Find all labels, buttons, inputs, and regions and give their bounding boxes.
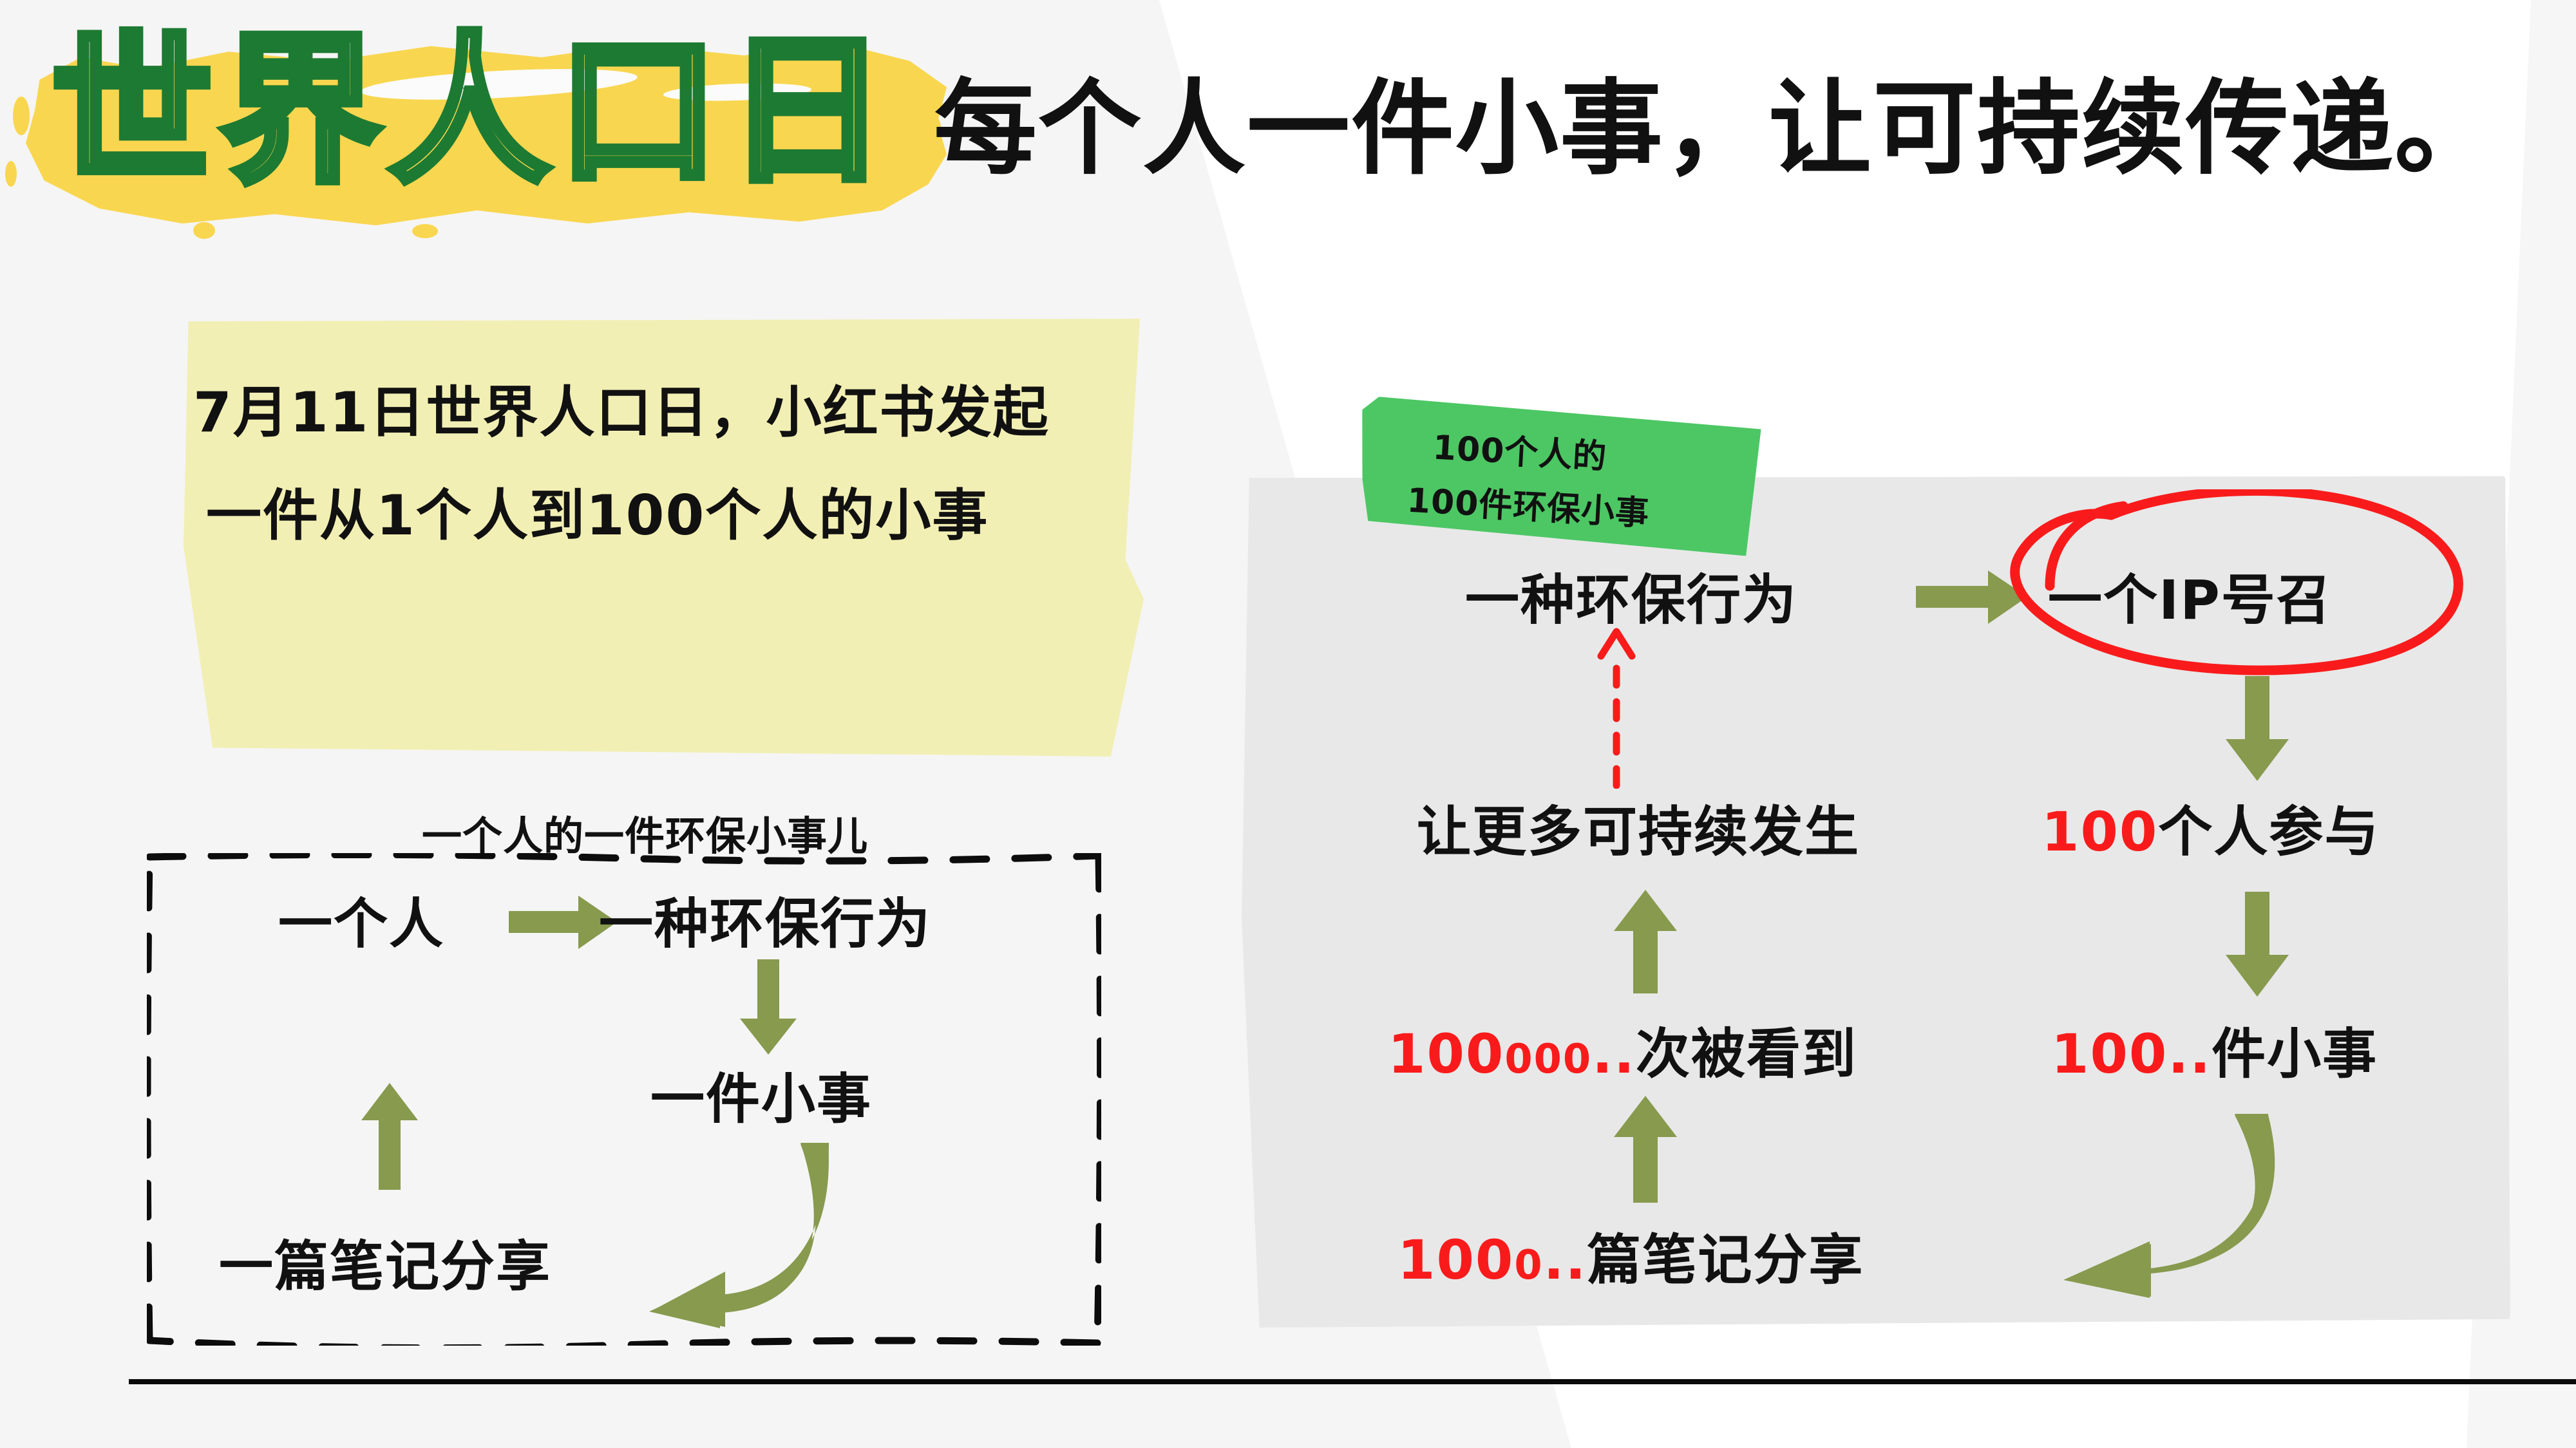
things-label: 件小事 bbox=[2211, 1022, 2378, 1086]
seen-label: 次被看到 bbox=[1636, 1022, 1857, 1086]
page-title: 世界人口日 bbox=[52, 31, 895, 192]
arrow-up-icon bbox=[357, 1082, 422, 1194]
right-node-sustain: 让更多可持续发生 bbox=[1417, 789, 1860, 867]
seen-number: 100 bbox=[1388, 1022, 1504, 1086]
brush-fleck-icon bbox=[193, 222, 215, 239]
arrow-right-icon bbox=[1916, 567, 2029, 631]
arrow-dashed-up-icon bbox=[1597, 628, 1636, 792]
notes-number: 100 bbox=[1397, 1228, 1514, 1292]
arrow-curve-left-icon bbox=[2022, 1107, 2293, 1304]
poster-canvas: 世界人口日 每个人一件小事，让可持续传递。 7月11日世界人口日，小红书发起 一… bbox=[0, 0, 2576, 1448]
right-node-notes: 1000..篇笔记分享 bbox=[1397, 1217, 1864, 1295]
join-label: 个人参与 bbox=[2158, 800, 2380, 863]
seen-dots: .. bbox=[1592, 1022, 1636, 1086]
right-node-join: 100个人参与 bbox=[2041, 789, 2380, 867]
seen-number-small: 000 bbox=[1504, 1035, 1592, 1082]
right-node-things: 100..件小事 bbox=[2051, 1011, 2378, 1089]
join-number: 100 bbox=[2041, 800, 2158, 863]
brush-fleck-icon bbox=[412, 224, 438, 238]
things-dots: .. bbox=[2168, 1022, 2211, 1086]
brush-fleck-icon bbox=[13, 97, 30, 135]
notes-dots: .. bbox=[1544, 1228, 1587, 1292]
left-node-note-share: 一篇笔记分享 bbox=[219, 1223, 551, 1301]
arrow-down-icon bbox=[2222, 892, 2293, 1001]
right-node-ip-call: 一个IP号召 bbox=[2048, 557, 2332, 635]
sticky-note-line-1: 7月11日世界人口日，小红书发起 bbox=[193, 367, 1050, 447]
notes-label: 篇笔记分享 bbox=[1587, 1228, 1864, 1292]
right-node-seen: 100000..次被看到 bbox=[1388, 1011, 1857, 1089]
arrow-down-icon bbox=[736, 959, 800, 1059]
left-node-person: 一个人 bbox=[278, 881, 444, 959]
sticky-note-line-2: 一件从1个人到100个人的小事 bbox=[206, 470, 989, 550]
notes-number-small: 0 bbox=[1514, 1241, 1543, 1288]
arrow-down-icon bbox=[2222, 676, 2293, 785]
brush-fleck-icon bbox=[5, 161, 17, 187]
left-node-behavior: 一种环保行为 bbox=[599, 881, 931, 959]
arrow-up-icon bbox=[1610, 889, 1681, 998]
headline-slogan: 每个人一件小事，让可持续传递。 bbox=[934, 77, 2499, 180]
things-number: 100 bbox=[2051, 1022, 2168, 1086]
ribbon-line-1: 100个人的 bbox=[1432, 420, 1608, 478]
right-node-behavior: 一种环保行为 bbox=[1465, 557, 1797, 635]
arrow-curve-left-icon bbox=[644, 1143, 837, 1333]
bottom-divider bbox=[129, 1379, 2576, 1384]
arrow-up-icon bbox=[1610, 1095, 1681, 1207]
left-node-thing: 一件小事 bbox=[650, 1056, 872, 1134]
